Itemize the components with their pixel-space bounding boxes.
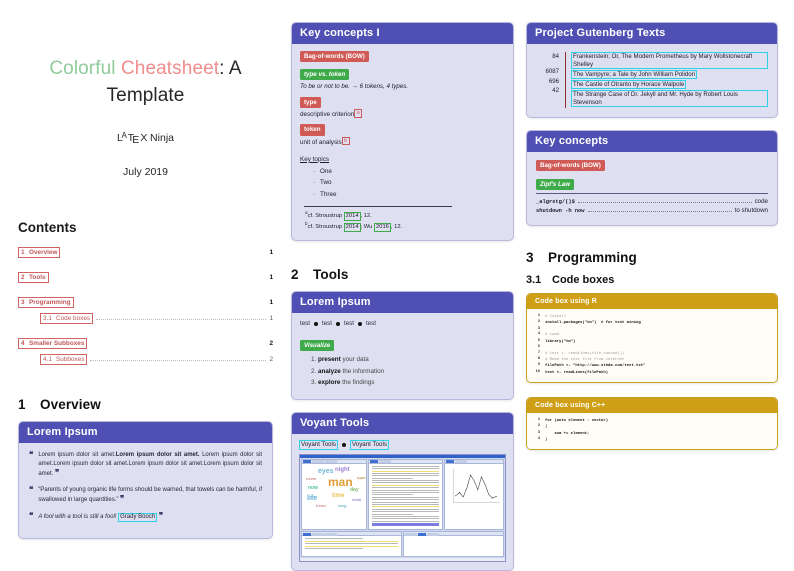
column-middle: Key concepts I Bag-of-words (BOW) type v… (285, 0, 520, 562)
box-code-cpp: Code box using C++ 1for (auto element : … (526, 397, 778, 450)
cloud-word: long (338, 504, 346, 508)
box-project-gutenberg-texts: Project Gutenberg Texts 84 6087 696 42 F… (526, 22, 778, 118)
definition-list: _algrstg/()$ code shutdown -h now to shu… (536, 198, 768, 216)
gutenberg-title-link[interactable]: Frankenstein; Or, The Modern Prometheus … (571, 52, 768, 69)
voyant-panes: eyes night man now never life time day s… (300, 458, 505, 532)
cloud-word: night (335, 467, 350, 473)
toc-leader (96, 319, 266, 320)
bullet-dot-icon (342, 443, 346, 447)
chip-visualize: Visualize (300, 340, 334, 351)
quote-close-icon: ❞ (120, 494, 124, 503)
definition-term: _algrstg/()$ (536, 199, 575, 207)
key-topics-list: One Two Three (300, 167, 505, 199)
definition-row: shutdown -h now to shutdown (536, 207, 768, 216)
section-heading-tools: 2Tools (291, 267, 514, 282)
cloud-word: heart (316, 504, 326, 508)
toc-leader (63, 253, 266, 254)
author-name: Ninja (147, 132, 174, 144)
table-cell-id: 42 (533, 86, 565, 95)
box-title: Lorem Ipsum (19, 422, 272, 443)
type-token-example: To be or not to be. → 6 tokens, 4 types. (300, 83, 505, 92)
voyant-label-row: Voyant Tools Voyant Tools (299, 440, 506, 450)
line-code: library("tm") (545, 339, 575, 345)
gutenberg-table: 84 6087 696 42 Frankenstein; Or, The Mod… (533, 52, 768, 108)
box-title: Code box using R (527, 294, 777, 309)
section-label: Overview (40, 397, 101, 412)
box-key-concepts: Key concepts Bag-of-words (BOW) Zipf's L… (526, 130, 778, 226)
quote-bold: Lorem ipsum dolor sit amet. (116, 452, 200, 458)
latex-e: E (132, 134, 139, 146)
title-part-cheatsheet: Cheatsheet (121, 58, 219, 79)
chip-bag-of-words: Bag-of-words (BOW) (300, 51, 369, 62)
table-cell-id: 84 (533, 52, 565, 61)
code-line: 10text <- readLines(filePath) (533, 370, 771, 376)
voyant-pane-summary[interactable] (301, 531, 402, 557)
contexts-text (404, 536, 503, 556)
line-number: 10 (533, 370, 545, 376)
cloud-word: eyes (318, 468, 334, 475)
cloud-word: time (332, 493, 344, 499)
cloud-word: man (328, 476, 353, 488)
quote-open-icon: ❝ (29, 451, 33, 479)
cloud-word: day (350, 488, 359, 493)
gutenberg-title-link[interactable]: The Vampyre; a Tale by John William Poli… (571, 70, 697, 80)
cloud-word: never (306, 477, 317, 481)
box-tools-lorem-ipsum: Lorem Ipsum test test test test Visualiz… (291, 291, 514, 400)
toc-entry-tools[interactable]: 2Tools 1 (18, 272, 273, 283)
document-page: Colorful Cheatsheet: A Template LATEX Ni… (0, 0, 794, 562)
toc-page-number: 2 (269, 340, 273, 347)
quote-text: A fool with a tool is still a fool! Grad… (38, 512, 262, 523)
citation-link[interactable]: 2014 (344, 212, 361, 221)
section-heading-programming: 3Programming (526, 250, 778, 265)
box-title: Project Gutenberg Texts (527, 23, 777, 44)
steps-list: present your data analyze the informatio… (300, 355, 505, 387)
code-listing-cpp[interactable]: 1for (auto element : vector) 2{ 3 sum +=… (527, 413, 777, 449)
table-row[interactable]: Frankenstein; Or, The Modern Prometheus … (571, 52, 768, 69)
line-code: install.packages("tm") # for text mining (545, 320, 641, 326)
quote-italic-text: A fool with a tool is still a fool! (38, 514, 116, 520)
gutenberg-titles: Frankenstein; Or, The Modern Prometheus … (571, 52, 768, 108)
box-title: Code box using C++ (527, 398, 777, 413)
latex-a: A (122, 131, 127, 140)
footnote-a: acf. Stroustrup 2014, 12. (305, 210, 505, 221)
latex-logo: LATEX (117, 132, 147, 144)
toc-entry-subboxes[interactable]: 4.1Subboxes 2 (40, 354, 273, 365)
toc-entry-code-boxes[interactable]: 3.1Code boxes 1 (40, 313, 273, 324)
citation-link[interactable]: 2014 (344, 223, 361, 232)
toc-page-number: 1 (269, 274, 273, 281)
toc-leader (90, 360, 266, 361)
quote-close-icon: ❞ (159, 511, 163, 520)
document-author: LATEX Ninja (18, 132, 273, 144)
chip-token: token (300, 124, 325, 135)
section-number: 1 (18, 397, 40, 412)
type-definition: descriptive criteriona (300, 110, 505, 119)
toc-link[interactable]: 4.1Subboxes (40, 354, 87, 365)
section-heading-overview: 1Overview (18, 397, 273, 412)
voyant-pane-contexts[interactable] (403, 531, 504, 557)
cloud-word: shall (352, 498, 361, 502)
toc-page-number: 1 (269, 249, 273, 256)
bullet-dot-icon (336, 322, 340, 326)
trends-line-chart (445, 464, 503, 512)
box-voyant-tools: Voyant Tools Voyant Tools Voyant Tools e… (291, 412, 514, 571)
table-row[interactable]: The Castle of Otranto by Horace Walpole (571, 80, 768, 90)
table-of-contents: 1Overview 1 2Tools 1 3Programming 1 3.1C… (18, 247, 273, 365)
quote-text: “Parents of young organic life forms sho… (38, 486, 262, 505)
list-item: present your data (318, 355, 505, 364)
subsection-label: Code boxes (552, 274, 614, 286)
toc-entry-programming[interactable]: 3Programming 1 (18, 297, 273, 308)
reader-text (369, 464, 441, 530)
quote-item: ❝ “Parents of young organic life forms s… (29, 486, 262, 505)
voyant-pane-cirrus[interactable]: eyes night man now never life time day s… (301, 459, 367, 531)
table-divider (565, 52, 566, 108)
subsection-heading-code-boxes: 3.1Code boxes (526, 274, 778, 286)
toc-link[interactable]: 1Overview (18, 247, 60, 258)
box-title: Lorem Ipsum (292, 292, 513, 313)
footnote-marker-b[interactable]: b (342, 137, 350, 146)
gutenberg-ids: 84 6087 696 42 (533, 52, 565, 108)
chip-type: type (300, 97, 321, 108)
quote-close-icon: ❞ (55, 468, 59, 477)
toc-page-number: 2 (269, 356, 273, 363)
quote-open-icon: ❝ (29, 512, 33, 523)
footnote-marker-a[interactable]: a (354, 109, 362, 118)
box-key-concepts-i: Key concepts I Bag-of-words (BOW) type v… (291, 22, 514, 241)
bullet-dot-icon (314, 322, 318, 326)
code-line: 4} (533, 437, 771, 443)
voyant-statusbar (300, 558, 505, 561)
contents-heading: Contents (18, 220, 273, 235)
toc-page-number: 1 (269, 299, 273, 306)
box-title: Key concepts I (292, 23, 513, 44)
table-cell-id: 6087 (533, 67, 565, 76)
definition-term: shutdown -h now (536, 208, 585, 216)
toc-link[interactable]: 2Tools (18, 272, 49, 283)
section-label: Programming (548, 250, 637, 265)
code-listing-r[interactable]: 1# Install 2install.packages("tm") # for… (527, 309, 777, 382)
voyant-bottom-panes (300, 531, 505, 558)
toc-link[interactable]: 3.1Code boxes (40, 313, 93, 324)
key-topics-label: Key topics (300, 155, 505, 164)
section-number: 2 (291, 267, 313, 282)
toc-entry-smaller-subboxes[interactable]: 4Smaller Subboxes 2 (18, 338, 273, 349)
voyant-link-left[interactable]: Voyant Tools (299, 440, 338, 450)
citation-link[interactable]: 2016 (374, 223, 391, 232)
chip-type-vs-token: type vs. token (300, 69, 349, 80)
column-right: Project Gutenberg Texts 84 6087 696 42 F… (520, 0, 794, 562)
list-item: explore the findings (318, 378, 505, 387)
bullet-label: test (322, 320, 332, 329)
quote-open-icon: ❝ (29, 486, 33, 505)
summary-text (302, 536, 401, 556)
line-code: for (auto element : vector) (545, 418, 608, 424)
definition-description: to shutdown (735, 207, 768, 216)
toc-leader (77, 303, 267, 304)
toc-page-number: 1 (269, 315, 273, 322)
toc-entry-overview[interactable]: 1Overview 1 (18, 247, 273, 258)
definition-rule (536, 193, 768, 194)
toc-leader (52, 278, 267, 279)
cloud-word: life (307, 495, 317, 502)
section-label: Tools (313, 267, 349, 282)
quote-citation-link[interactable]: Grady Booch (118, 513, 157, 523)
table-cell-id: 696 (533, 77, 565, 86)
quote-item: ❝ Lorem ipsum dolor sit amet.Lorem ipsum… (29, 451, 262, 479)
line-code: } (545, 437, 547, 443)
box-code-r: Code box using R 1# Install 2install.pac… (526, 293, 778, 383)
chip-zipfs-law: Zipf's Law (536, 179, 574, 190)
list-item: analyze the information (318, 367, 505, 376)
cloud-word: now (308, 486, 318, 491)
footnote-b: bcf. Stroustrup 2014; Wu 2016, 12. (305, 221, 505, 232)
bullet-label: test (344, 320, 354, 329)
word-cloud: eyes night man now never life time day s… (302, 464, 366, 516)
quote-text: Lorem ipsum dolor sit amet.Lorem ipsum d… (38, 451, 262, 479)
quote-item-cited: ❝ A fool with a tool is still a fool! Gr… (29, 512, 262, 523)
box-title: Voyant Tools (292, 413, 513, 434)
definition-row: _algrstg/()$ code (536, 198, 768, 207)
line-code: text <- readLines(filePath) (545, 370, 608, 376)
chip-bag-of-words: Bag-of-words (BOW) (536, 160, 605, 171)
toc-link[interactable]: 3Programming (18, 297, 74, 308)
toc-link[interactable]: 4Smaller Subboxes (18, 338, 87, 349)
line-number: 4 (533, 437, 545, 443)
voyant-pane-trends[interactable] (444, 459, 504, 531)
bullet-dot-icon (358, 322, 362, 326)
section-number: 3 (526, 250, 548, 265)
voyant-pane-reader[interactable] (368, 459, 442, 531)
test-bullet-row: test test test test (300, 320, 505, 329)
table-row[interactable]: The Vampyre; a Tale by John William Poli… (571, 70, 768, 80)
voyant-screenshot: eyes night man now never life time day s… (299, 454, 506, 563)
cloud-word: upon (357, 476, 366, 480)
definition-leader (588, 211, 732, 212)
list-item: Three (320, 190, 505, 199)
list-item: One (320, 167, 505, 176)
definition-description: code (755, 198, 768, 207)
toc-leader (90, 344, 266, 345)
box-title: Key concepts (527, 131, 777, 152)
title-part-colorful: Colorful (49, 58, 121, 79)
box-overview-lorem-ipsum: Lorem Ipsum ❝ Lorem ipsum dolor sit amet… (18, 421, 273, 540)
footnote-rule (304, 206, 452, 207)
definition-leader (578, 202, 752, 203)
voyant-link-right[interactable]: Voyant Tools (350, 440, 389, 450)
token-definition: unit of analysisb (300, 138, 505, 147)
gutenberg-title-link[interactable]: The Castle of Otranto by Horace Walpole (571, 80, 686, 90)
table-row[interactable]: The Strange Case of Dr. Jekyll and Mr. H… (571, 90, 768, 107)
bullet-label: test (300, 320, 310, 329)
line-code: sum += element; (545, 431, 589, 437)
document-date: July 2019 (18, 166, 273, 178)
subsection-number: 3.1 (526, 274, 552, 286)
gutenberg-title-link[interactable]: The Strange Case of Dr. Jekyll and Mr. H… (571, 90, 768, 107)
list-item: Two (320, 178, 505, 187)
page-title: Colorful Cheatsheet: A Template (18, 56, 273, 110)
bullet-label: test (366, 320, 376, 329)
column-left: Colorful Cheatsheet: A Template LATEX Ni… (0, 0, 285, 562)
